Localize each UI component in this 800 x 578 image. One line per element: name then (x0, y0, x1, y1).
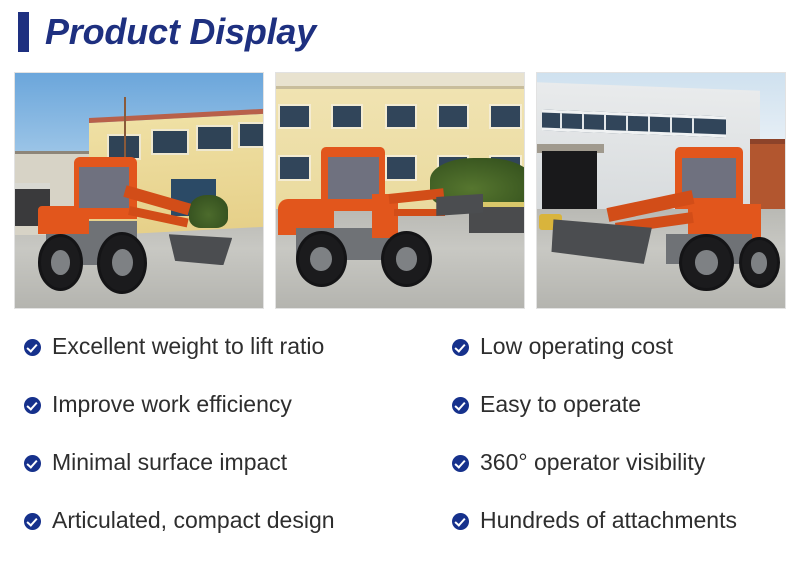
page-title: Product Display (45, 14, 316, 50)
window-row-upper (276, 104, 524, 130)
product-photo-3[interactable] (536, 72, 786, 309)
building-window (238, 122, 263, 148)
title-accent-bar (18, 12, 29, 52)
check-circle-icon (24, 455, 41, 472)
product-photo-1[interactable] (14, 72, 264, 309)
check-circle-icon (452, 455, 469, 472)
building-window (151, 129, 188, 155)
product-photo-2[interactable] (275, 72, 525, 309)
check-circle-icon (24, 513, 41, 530)
check-circle-icon (452, 339, 469, 356)
check-circle-icon (452, 513, 469, 530)
wheel-loader-vehicle (30, 167, 228, 296)
photo-3-scene (537, 73, 785, 308)
building-window (196, 125, 233, 151)
check-circle-icon (24, 339, 41, 356)
product-image-gallery (14, 72, 786, 309)
feature-label: Hundreds of attachments (480, 508, 737, 533)
wheel-loader-vehicle (278, 167, 491, 289)
feature-lists: Excellent weight to lift ratio Improve w… (0, 318, 800, 568)
feature-label: Low operating cost (480, 334, 673, 359)
feature-label: Easy to operate (480, 392, 641, 417)
check-circle-icon (24, 397, 41, 414)
wheel-loader-vehicle (547, 158, 775, 294)
building-roof (276, 73, 524, 89)
photo-2-scene (276, 73, 524, 308)
feature-label: 360° operator visibility (480, 450, 705, 475)
page-header: Product Display (0, 0, 800, 64)
check-circle-icon (452, 397, 469, 414)
photo-1-scene (15, 73, 263, 308)
feature-column-right: Low operating cost Easy to operate 360° … (0, 318, 452, 568)
